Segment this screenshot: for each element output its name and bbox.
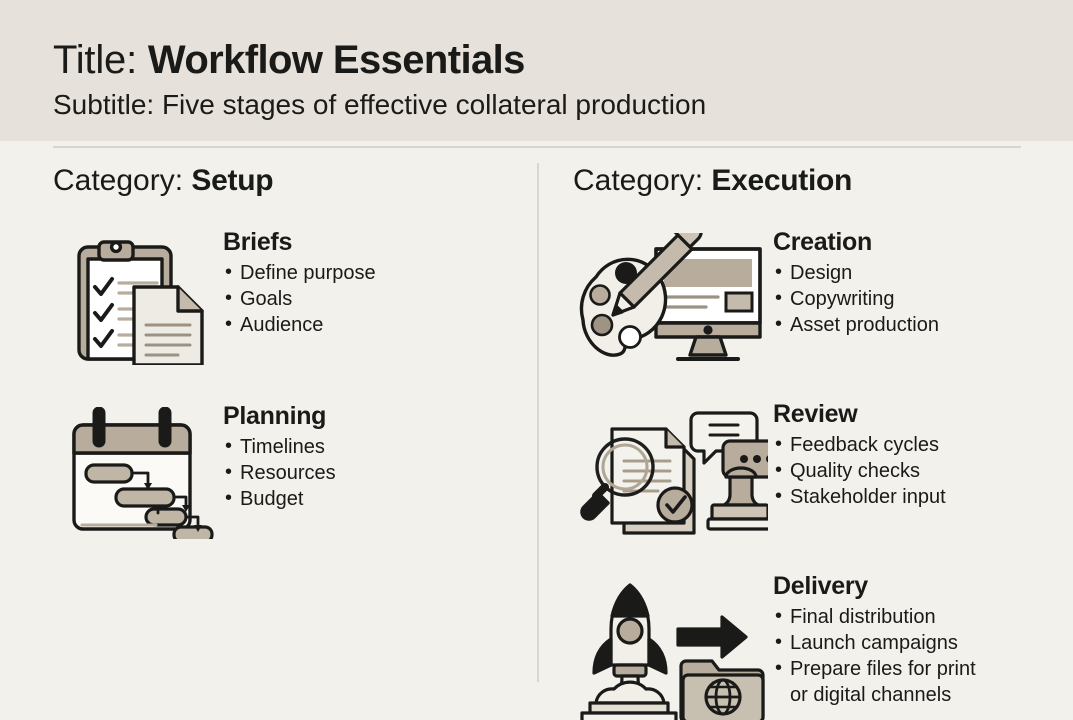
title-value: Workflow Essentials (148, 38, 525, 82)
page-title: Title: Workflow Essentials (53, 36, 525, 84)
item-bullets: Define purpose Goals Audience (223, 260, 523, 338)
list-bullet: Feedback cycles (773, 432, 1063, 458)
list-bullet: Goals (223, 286, 523, 312)
column-execution: Category: Execution (573, 163, 1063, 720)
subtitle-label: Subtitle: (53, 89, 154, 120)
category-heading-execution: Category: Execution (573, 163, 1063, 199)
clipboard-checklist-document-icon (53, 227, 223, 365)
list-bullet: Define purpose (223, 260, 523, 286)
item-bullets: Feedback cycles Quality checks Stakehold… (773, 432, 1063, 510)
list-bullet: Timelines (223, 434, 523, 460)
item-bullets: Timelines Resources Budget (223, 434, 523, 512)
category-heading-setup: Category: Setup (53, 163, 523, 199)
category-value: Setup (191, 164, 273, 197)
magnifier-document-speech-stamp-icon (573, 399, 773, 537)
item-title: Review (773, 399, 1063, 429)
page-subtitle: Subtitle: Five stages of effective colla… (53, 88, 706, 122)
column-divider (537, 163, 539, 682)
item-title: Planning (223, 401, 523, 431)
category-value: Execution (711, 164, 852, 197)
list-bullet: Design (773, 260, 1063, 286)
item-body: Creation Design Copywriting Asset produc… (773, 227, 1063, 338)
list-bullet: Asset production (773, 312, 1063, 338)
palette-pencil-monitor-icon (573, 227, 773, 365)
subtitle-value: Five stages of effective collateral prod… (162, 89, 706, 120)
header-divider (53, 146, 1021, 148)
item-bullets: Design Copywriting Asset production (773, 260, 1063, 338)
list-bullet: Launch campaigns (773, 630, 1063, 656)
title-label: Title: (53, 38, 137, 82)
item-title: Creation (773, 227, 1063, 257)
list-item: Briefs Define purpose Goals Audience (53, 227, 523, 365)
list-item: Planning Timelines Resources Budget (53, 401, 523, 539)
list-bullet: Stakeholder input (773, 484, 1063, 510)
rocket-arrow-globe-folder-icon (573, 571, 773, 720)
list-item: Review Feedback cycles Quality checks St… (573, 399, 1063, 537)
list-bullet: Copywriting (773, 286, 1063, 312)
item-bullets: Final distribution Launch campaigns Prep… (773, 604, 1063, 708)
list-item: Creation Design Copywriting Asset produc… (573, 227, 1063, 365)
category-label: Category: (573, 164, 703, 197)
calendar-gantt-timeline-icon (53, 401, 223, 539)
item-title: Briefs (223, 227, 523, 257)
list-bullet: Budget (223, 486, 523, 512)
item-body: Briefs Define purpose Goals Audience (223, 227, 523, 338)
list-bullet: Audience (223, 312, 523, 338)
item-body: Review Feedback cycles Quality checks St… (773, 399, 1063, 510)
list-bullet: Final distribution (773, 604, 1063, 630)
item-body: Delivery Final distribution Launch campa… (773, 571, 1063, 708)
list-bullet: Resources (223, 460, 523, 486)
item-body: Planning Timelines Resources Budget (223, 401, 523, 512)
item-title: Delivery (773, 571, 1063, 601)
list-bullet: Quality checks (773, 458, 1063, 484)
category-label: Category: (53, 164, 183, 197)
list-bullet: Prepare files for print or digital chann… (773, 656, 1063, 708)
list-item: Delivery Final distribution Launch campa… (573, 571, 1063, 720)
column-setup: Category: Setup (53, 163, 523, 555)
